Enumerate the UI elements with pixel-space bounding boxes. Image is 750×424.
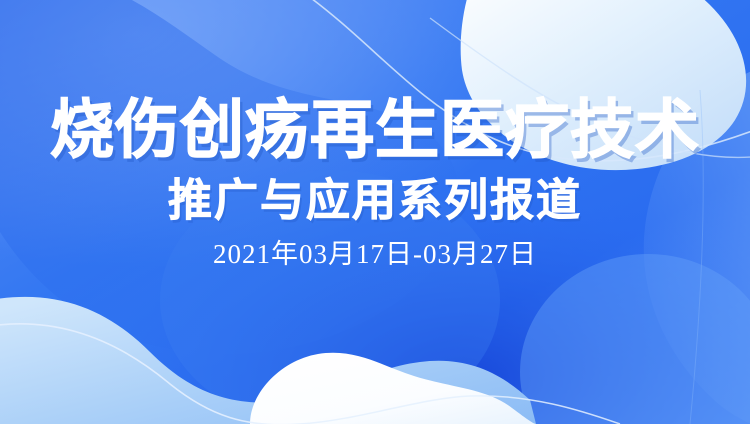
promo-banner: 烧伤创疡再生医疗技术 推广与应用系列报道 2021年03月17日-03月27日 (0, 0, 750, 424)
banner-main-title: 烧伤创疡再生医疗技术 (50, 98, 700, 165)
banner-text-stack: 烧伤创疡再生医疗技术 推广与应用系列报道 2021年03月17日-03月27日 (0, 0, 750, 424)
banner-sub-title: 推广与应用系列报道 (168, 177, 582, 225)
banner-date-range: 2021年03月17日-03月27日 (213, 240, 537, 270)
